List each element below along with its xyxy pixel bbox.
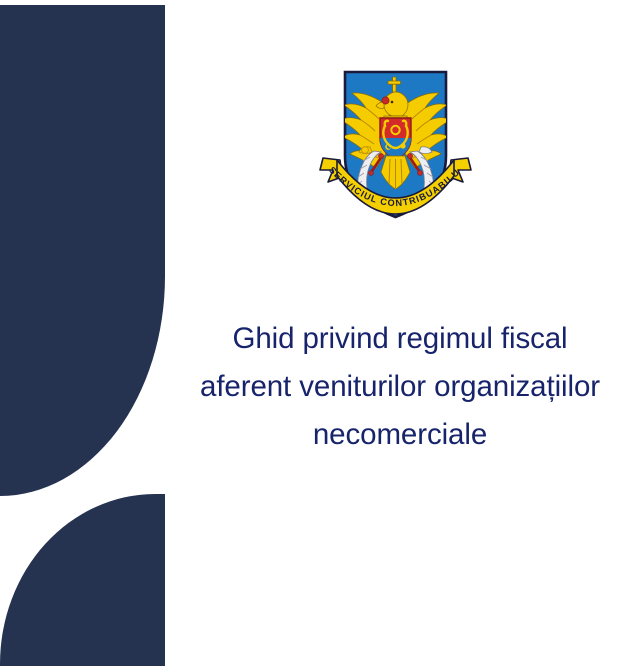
page-title: Ghid privind regimul fiscal aferent veni… (165, 315, 635, 459)
cover-page: IN SERVICIUL CONTRIBUABILULUI Ghid privi… (0, 0, 635, 669)
title-line-1: Ghid privind regimul fiscal (165, 315, 635, 363)
decor-shape-bottom-left (0, 494, 165, 666)
title-line-2: aferent veniturilor organizațiilor (165, 363, 635, 411)
title-line-3: necomerciale (165, 411, 635, 459)
decor-shape-top-left (0, 5, 165, 496)
fiscal-service-emblem: IN SERVICIUL CONTRIBUABILULUI (318, 60, 473, 225)
